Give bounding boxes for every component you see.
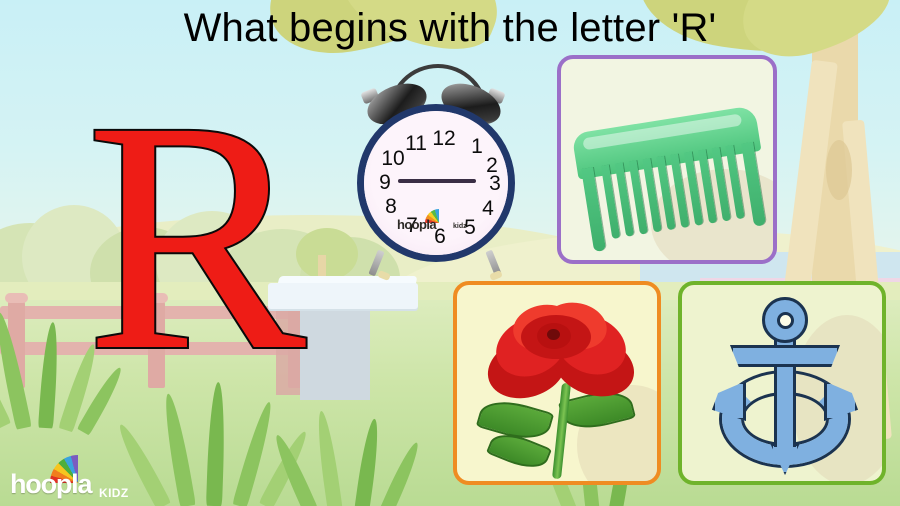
alarm-clock-illustration: 1 2 3 4 5 6 7 8 9 10 11 12 hoopla kidz bbox=[340, 62, 530, 277]
clock-brand-logo: hoopla kidz bbox=[397, 209, 475, 233]
clock-number-9: 9 bbox=[372, 170, 398, 196]
watermark-suffix: KIDZ bbox=[99, 486, 129, 500]
anchor-illustration bbox=[710, 295, 860, 475]
anchor-fluke-right bbox=[824, 381, 858, 421]
picture-card-anchor[interactable] bbox=[678, 281, 886, 485]
clock-brand-word: hoopla bbox=[397, 217, 459, 232]
clock-number-11: 11 bbox=[403, 131, 429, 157]
anchor-fluke-left bbox=[712, 381, 746, 421]
tree-bark-knot bbox=[826, 140, 852, 200]
comb-tooth bbox=[741, 142, 766, 227]
picture-card-comb[interactable] bbox=[557, 55, 777, 264]
clock-number-12: 12 bbox=[431, 126, 457, 152]
clock-brand-suffix: kidz bbox=[453, 223, 467, 230]
featured-letter: R bbox=[76, 72, 316, 402]
rose-stem bbox=[552, 383, 571, 479]
anchor-ring-hole bbox=[777, 312, 794, 329]
page-title: What begins with the letter 'R' bbox=[0, 2, 900, 54]
clock-face: 1 2 3 4 5 6 7 8 9 10 11 12 hoopla kidz bbox=[364, 111, 508, 255]
picture-card-rose[interactable] bbox=[453, 281, 661, 485]
clock-hands bbox=[398, 179, 476, 183]
clock-number-3: 3 bbox=[482, 171, 508, 197]
clock-body: 1 2 3 4 5 6 7 8 9 10 11 12 hoopla kidz bbox=[357, 104, 515, 262]
anchor-crossbar bbox=[730, 345, 840, 367]
rose-center-inner bbox=[547, 329, 560, 340]
brand-watermark: hoopla KIDZ bbox=[10, 455, 136, 501]
rose-illustration bbox=[475, 297, 650, 477]
slide-canvas: What begins with the letter 'R' R 1 2 3 … bbox=[0, 0, 900, 506]
watermark-word: hoopla bbox=[10, 469, 91, 500]
